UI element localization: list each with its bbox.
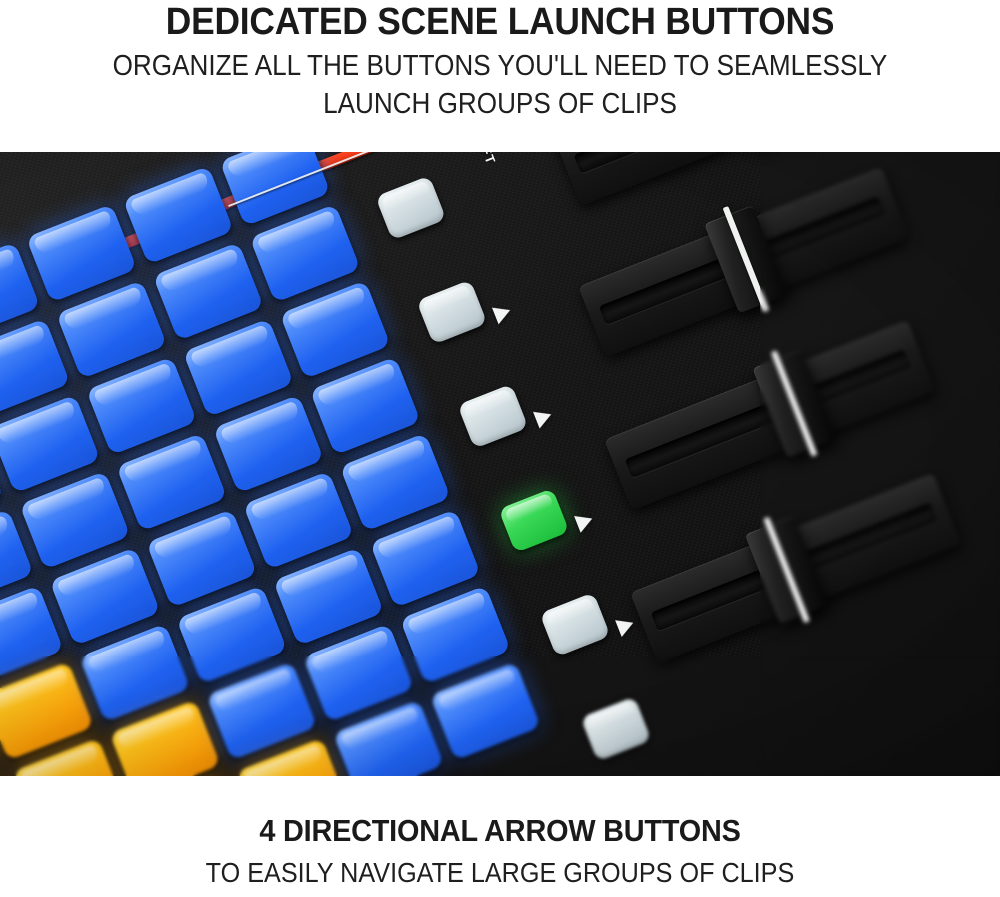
control-surface: SHIFT DEVICE xyxy=(0,152,1000,776)
product-feature-callout: DEDICATED SCENE LAUNCH BUTTONS ORGANIZE … xyxy=(0,0,1000,897)
scene-launch-button[interactable] xyxy=(580,696,651,761)
bottom-caption-block: 4 DIRECTIONAL ARROW BUTTONS TO EASILY NA… xyxy=(0,776,1000,897)
scene-launch-arrow-icon xyxy=(615,614,636,637)
bottom-subline-line-1: TO EASILY NAVIGATE LARGE GROUPS OF CLIPS xyxy=(50,855,950,890)
top-subline-line-1: ORGANIZE ALL THE BUTTONS YOU'LL NEED TO … xyxy=(50,48,950,84)
clip-launch-pad[interactable] xyxy=(430,662,541,761)
scene-launch-button[interactable] xyxy=(457,384,528,449)
scene-launch-button[interactable] xyxy=(375,175,446,240)
fader-track[interactable] xyxy=(638,471,951,667)
fader-track[interactable] xyxy=(586,165,899,361)
scene-launch-button[interactable] xyxy=(539,592,610,657)
top-caption-block: DEDICATED SCENE LAUNCH BUTTONS ORGANIZE … xyxy=(0,0,1000,152)
bottom-headline: 4 DIRECTIONAL ARROW BUTTONS xyxy=(35,776,965,848)
top-subline-line-2: LAUNCH GROUPS OF CLIPS xyxy=(50,86,950,122)
scene-launch-arrow-icon xyxy=(574,510,595,533)
scene-launch-button-active[interactable] xyxy=(498,488,569,553)
scene-launch-arrow-icon xyxy=(533,406,554,429)
scene-launch-button[interactable] xyxy=(416,280,487,345)
shift-label: SHIFT xyxy=(469,152,499,167)
top-headline: DEDICATED SCENE LAUNCH BUTTONS xyxy=(35,2,965,42)
product-photo: SHIFT DEVICE xyxy=(0,152,1000,776)
scene-launch-arrow-icon xyxy=(492,302,513,325)
fader-track[interactable] xyxy=(612,318,925,514)
